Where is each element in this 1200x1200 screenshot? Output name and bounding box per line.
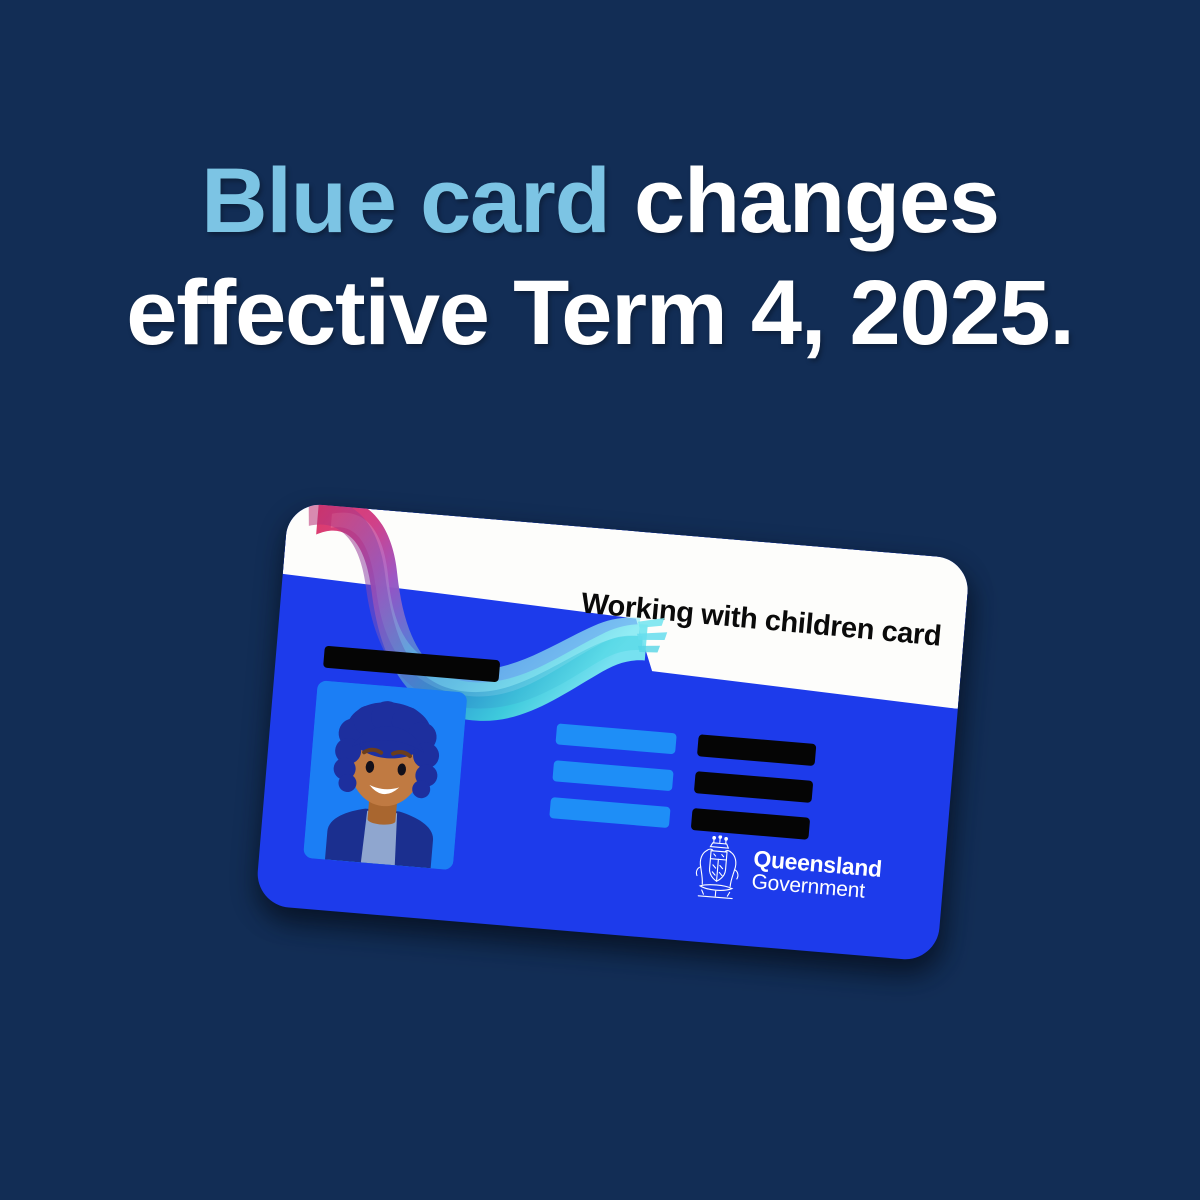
queensland-coat-of-arms-icon (689, 833, 746, 901)
page-title: Blue card changes effective Term 4, 2025… (0, 145, 1200, 369)
headline-line-1: Blue card changes (0, 145, 1200, 257)
field-label-bar (549, 797, 670, 828)
queensland-government-wordmark: Queensland Government (751, 847, 883, 903)
field-value-bar (697, 734, 816, 766)
working-with-children-card: Working with children card (255, 502, 970, 962)
redacted-name-bar (323, 646, 500, 683)
poster-canvas: Blue card changes effective Term 4, 2025… (0, 0, 1200, 1200)
cardholder-portrait-icon (303, 680, 467, 870)
headline-line-2: effective Term 4, 2025. (0, 257, 1200, 369)
headline-plain-text: changes (610, 150, 999, 252)
blue-card-illustration: Working with children card (245, 491, 979, 988)
field-label-bar (552, 760, 673, 791)
headline-accent-text: Blue card (201, 150, 609, 252)
cardholder-photo (303, 680, 467, 870)
field-value-bar (694, 771, 813, 803)
field-label-bar (555, 723, 676, 754)
